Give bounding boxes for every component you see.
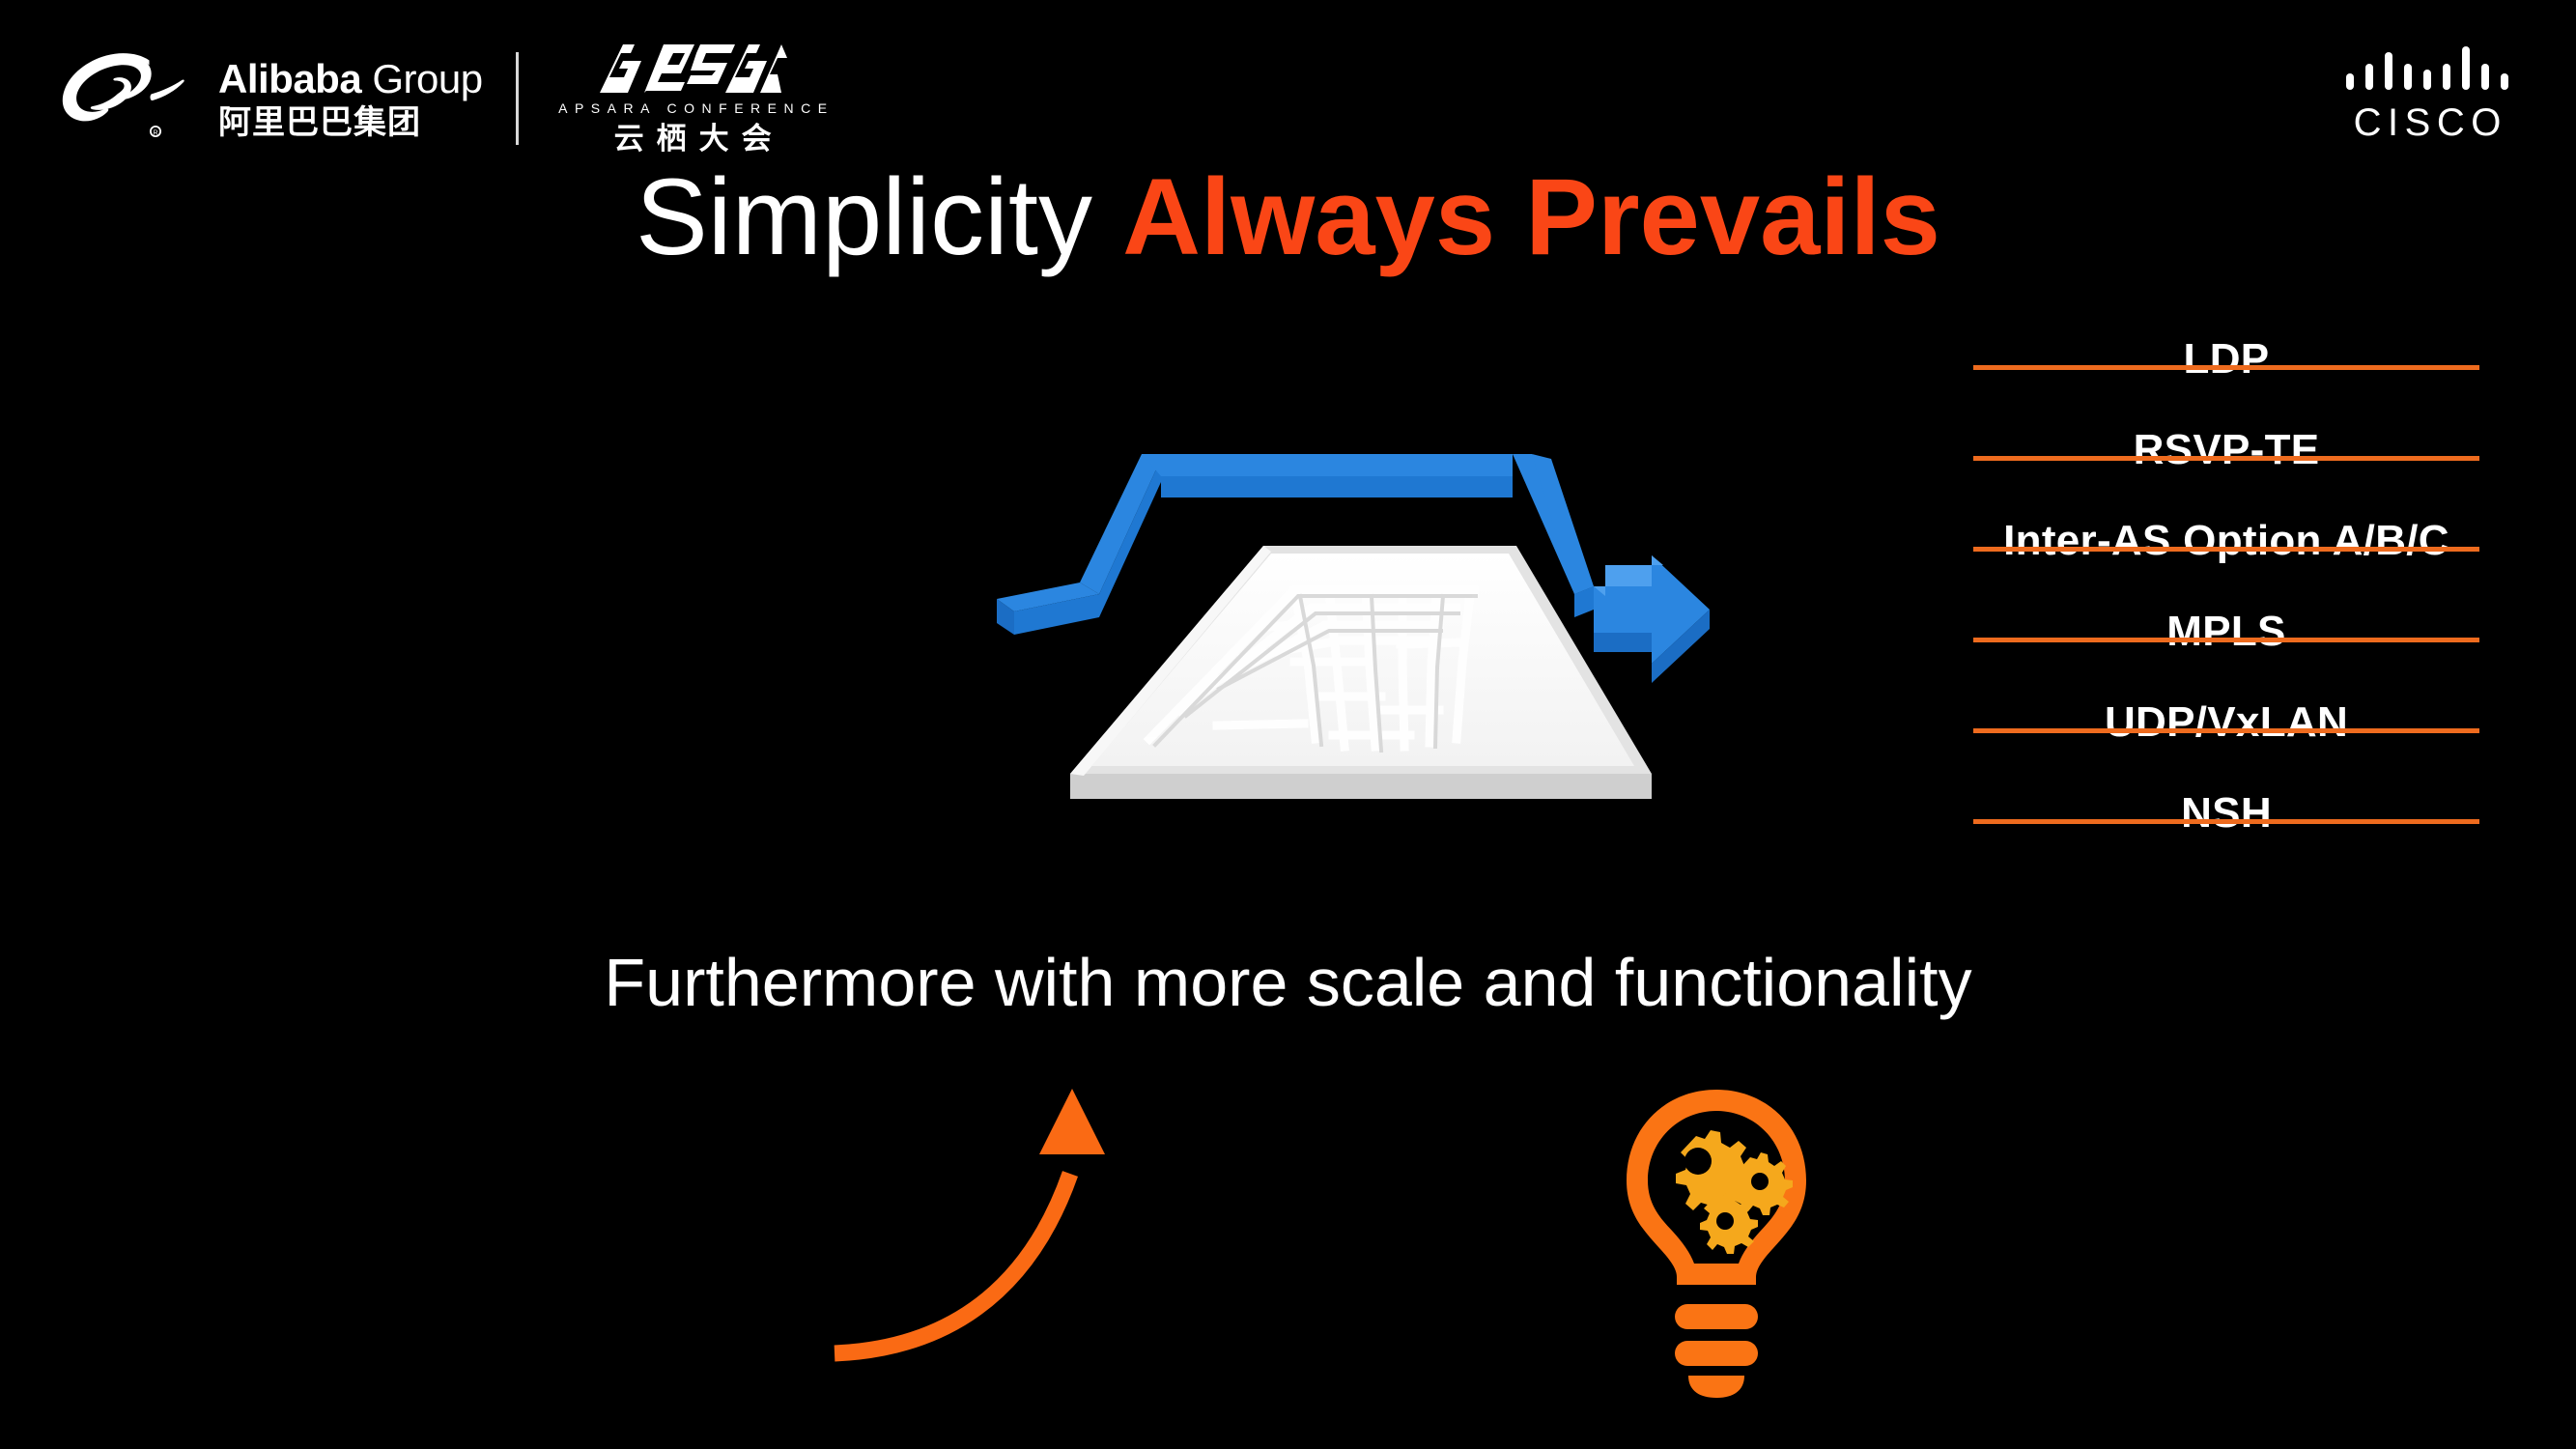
cisco-logo: CISCO xyxy=(2344,43,2510,142)
alibaba-wordmark: Alibaba Group 阿里巴巴集团 xyxy=(218,59,483,139)
exit-arrow-head xyxy=(1594,555,1710,683)
protocol-row: MPLS xyxy=(1973,586,2479,677)
alibaba-name-line: Alibaba Group xyxy=(218,59,483,99)
protocol-row: NSH xyxy=(1973,768,2479,859)
slide-title: Simplicity Always Prevails xyxy=(0,156,2576,277)
protocol-row: LDP xyxy=(1973,314,2479,405)
header-logo-bar: R Alibaba Group 阿里巴巴集团 xyxy=(60,46,835,151)
title-accent: Always Prevails xyxy=(1122,156,1940,277)
apsara-conference-logo: APSARA CONFERENCE 云栖大会 xyxy=(552,44,835,154)
alibaba-name-bold: Alibaba xyxy=(218,56,361,101)
apsara-chinese: 云栖大会 xyxy=(602,124,784,154)
alibaba-ribbon-icon: R xyxy=(60,50,205,148)
strike-line xyxy=(1973,539,2479,544)
svg-text:R: R xyxy=(153,129,157,136)
cisco-bridge-icon xyxy=(2344,43,2510,98)
apsara-subtitle: APSARA CONFERENCE xyxy=(552,101,835,115)
logo-divider xyxy=(516,52,519,145)
strike-line xyxy=(1973,811,2479,816)
slide-canvas: R Alibaba Group 阿里巴巴集团 xyxy=(0,0,2576,1449)
maze-shortcut-icon xyxy=(976,420,1729,816)
protocol-row: RSVP-TE xyxy=(1973,405,2479,496)
alibaba-name-chinese: 阿里巴巴集团 xyxy=(218,106,483,139)
growth-curve-arrow-icon xyxy=(829,1087,1138,1367)
lightbulb-gears-icon xyxy=(1615,1084,1818,1398)
apsara-wordmark-icon xyxy=(598,44,787,97)
strike-line xyxy=(1973,630,2479,635)
alibaba-name-light: Group xyxy=(361,56,482,101)
title-plain: Simplicity xyxy=(636,156,1122,277)
strike-line xyxy=(1973,357,2479,362)
protocol-row: Inter-AS Option A/B/C xyxy=(1973,496,2479,586)
deprecated-protocol-list: LDP RSVP-TE Inter-AS Option A/B/C MPLS U xyxy=(1973,314,2479,859)
strike-line xyxy=(1973,721,2479,725)
alibaba-group-logo: R Alibaba Group 阿里巴巴集团 xyxy=(60,50,483,148)
strike-line xyxy=(1973,448,2479,453)
cisco-wordmark: CISCO xyxy=(2347,103,2507,142)
protocol-row: UDP/VxLAN xyxy=(1973,677,2479,768)
slide-subtitle: Furthermore with more scale and function… xyxy=(0,944,2576,1022)
